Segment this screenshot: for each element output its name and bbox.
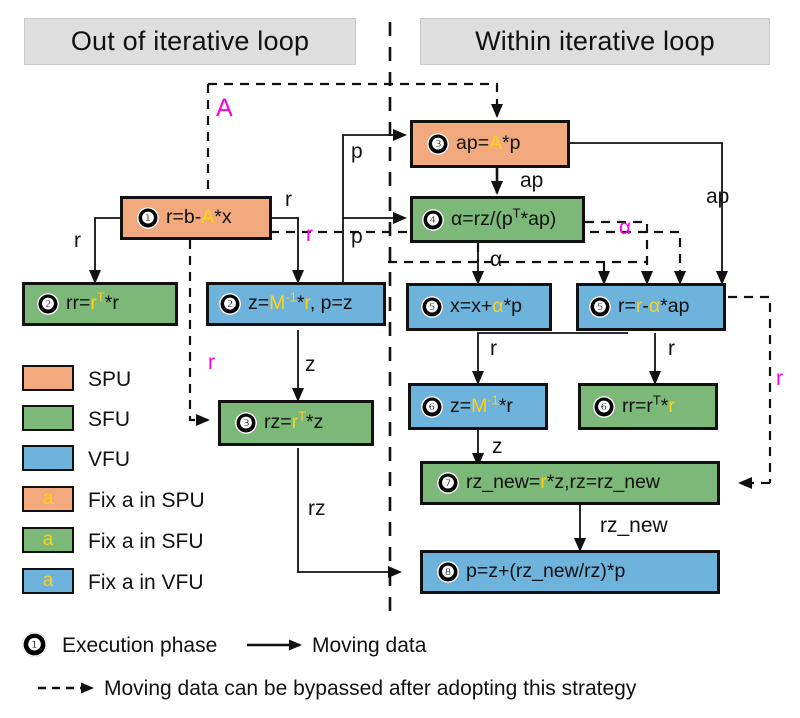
node-2a-equation: rr=rT*r	[66, 294, 119, 314]
edge-label-r-magenta-mid: r	[306, 224, 313, 245]
node-2b-precond[interactable]: ❷ z=M-1*r, p=z	[206, 282, 386, 326]
node-5b-update-r[interactable]: ❺ r=r-α*ap	[576, 283, 726, 331]
edge-label-r-magenta-left: r	[208, 352, 215, 373]
node-4-badge: ❹	[422, 209, 444, 231]
node-5a-equation: x=x+α*p	[450, 297, 522, 317]
node-5b-badge: ❺	[589, 296, 611, 318]
node-7-equation: rz_new=r*z,rz=rz_new	[466, 473, 660, 493]
edge-label-rz: rz	[308, 498, 326, 519]
edge-label-rz-new: rz_new	[600, 515, 668, 536]
node-7-badge: ❼	[437, 472, 459, 494]
legend-label-fix-sfu: Fix a in SFU	[88, 531, 204, 552]
node-6b-badge: ❻	[593, 396, 615, 418]
legend-execution-badge: ❶	[22, 632, 47, 657]
legend-label-fix-spu: Fix a in SPU	[88, 490, 205, 511]
legend-label-fix-vfu: Fix a in VFU	[88, 572, 204, 593]
node-5b-equation: r=r-α*ap	[618, 297, 689, 317]
node-1-equation: r=b-A*x	[166, 208, 232, 228]
legend-label-sfu: SFU	[88, 409, 130, 430]
legend-execution-label: Execution phase	[62, 635, 217, 656]
legend-swatch-fix-spu: a	[22, 486, 74, 512]
node-4-alpha[interactable]: ❹ α=rz/(pT*ap)	[410, 196, 585, 243]
node-5a-update-x[interactable]: ❺ x=x+α*p	[406, 283, 552, 331]
node-2b-equation: z=M-1*r, p=z	[248, 294, 353, 314]
node-2b-badge: ❷	[219, 293, 241, 315]
legend-label-vfu: VFU	[88, 449, 130, 470]
edge-label-p-upper: p	[351, 141, 363, 162]
node-3-left-equation: rz=rT*z	[264, 413, 323, 433]
connector-layer	[0, 0, 800, 718]
node-7-rz-new[interactable]: ❼ rz_new=r*z,rz=rz_new	[420, 461, 720, 505]
edge-label-A: A	[216, 96, 233, 121]
edge-label-alpha-magenta: α	[619, 217, 631, 238]
legend-swatch-fix-sfu: a	[22, 527, 74, 553]
node-6a-badge: ❻	[421, 396, 443, 418]
edge-label-z-mid: z	[492, 436, 503, 457]
legend-swatch-fix-sfu-glyph: a	[43, 529, 54, 551]
edge-label-ap-down: ap	[520, 170, 543, 191]
legend-swatch-sfu	[22, 405, 74, 431]
node-6a-precond[interactable]: ❻ z=M-1*r	[408, 383, 548, 430]
edge-label-r-mid-left: r	[490, 338, 497, 359]
node-2a-badge: ❷	[37, 293, 59, 315]
legend-swatch-fix-vfu-glyph: a	[43, 570, 54, 592]
edge-label-r-top-right: r	[285, 189, 292, 210]
node-6a-equation: z=M-1*r	[450, 397, 513, 417]
header-right: Within iterative loop	[420, 18, 770, 65]
node-8-badge: ❽	[437, 561, 459, 583]
node-1-residual[interactable]: ❶ r=b-A*x	[120, 196, 272, 240]
node-1-badge: ❶	[137, 207, 159, 229]
legend-bypass-note: Moving data can be bypassed after adopti…	[104, 678, 636, 699]
node-3-left-rz[interactable]: ❸ rz=rT*z	[218, 400, 374, 446]
header-right-label: Within iterative loop	[475, 26, 715, 57]
node-2a-rr[interactable]: ❷ rr=rT*r	[22, 282, 178, 326]
legend-label-spu: SPU	[88, 369, 131, 390]
header-left: Out of iterative loop	[24, 18, 356, 65]
legend-swatch-fix-spu-glyph: a	[43, 488, 54, 510]
header-left-label: Out of iterative loop	[71, 26, 309, 57]
node-3-left-badge: ❸	[235, 412, 257, 434]
node-8-update-p[interactable]: ❽ p=z+(rz_new/rz)*p	[420, 550, 720, 594]
diagram-canvas: Out of iterative loop Within iterative l…	[0, 0, 800, 718]
legend-swatch-fix-vfu: a	[22, 568, 74, 594]
legend-moving-data-label: Moving data	[312, 635, 426, 656]
edge-label-z-left: z	[305, 354, 316, 375]
node-3-right-equation: ap=A*p	[456, 134, 521, 154]
edge-label-ap-right: ap	[706, 186, 729, 207]
legend-swatch-vfu	[22, 445, 74, 471]
edge-label-p-lower: p	[351, 226, 363, 247]
node-8-equation: p=z+(rz_new/rz)*p	[466, 562, 625, 582]
node-3-right-ap[interactable]: ❸ ap=A*p	[410, 120, 570, 168]
legend-swatch-spu	[22, 365, 74, 391]
node-5a-badge: ❺	[421, 296, 443, 318]
node-6b-rr[interactable]: ❻ rr=rT*r	[578, 383, 718, 430]
node-3-right-badge: ❸	[427, 133, 449, 155]
node-6b-equation: rr=rT*r	[622, 397, 675, 417]
edge-label-r-magenta-right: r	[776, 368, 783, 389]
edge-label-r-mid-right: r	[668, 338, 675, 359]
edge-label-r-left: r	[74, 230, 81, 251]
node-4-equation: α=rz/(pT*ap)	[451, 210, 556, 230]
edge-label-alpha-down: α	[490, 249, 502, 270]
